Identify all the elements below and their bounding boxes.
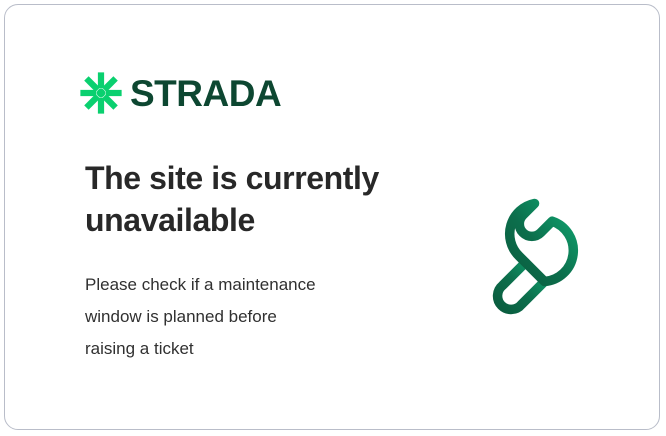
wrench-icon — [457, 157, 625, 325]
brand-wordmark: STRADA — [130, 75, 281, 112]
status-page-card: STRADA The site is currently unavailable… — [4, 4, 660, 430]
description-line-2: window is planned before — [85, 301, 405, 333]
description-line-1: Please check if a maintenance — [85, 269, 405, 301]
asterisk-starburst-icon — [79, 71, 123, 115]
page-description: Please check if a maintenance window is … — [85, 269, 405, 365]
page-title: The site is currently unavailable — [85, 157, 415, 241]
wrench-illustration — [457, 157, 625, 325]
description-line-3: raising a ticket — [85, 333, 405, 365]
brand-logo: STRADA — [79, 71, 281, 115]
